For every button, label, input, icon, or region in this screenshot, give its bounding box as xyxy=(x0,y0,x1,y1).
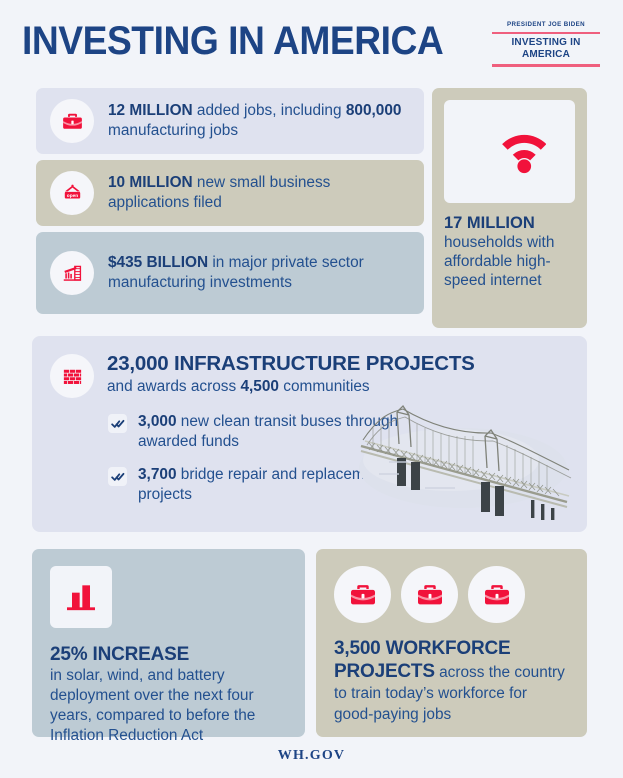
page-title: INVESTING IN AMERICA xyxy=(22,21,443,61)
clean-energy-title: 25% INCREASE xyxy=(50,643,287,666)
bullet-value-transit-buses: 3,000 xyxy=(138,413,177,430)
logo-rule-bottom xyxy=(492,64,600,67)
internet-panel: 17 MILLION households with affordable hi… xyxy=(432,88,587,328)
infra-sub-value: 4,500 xyxy=(240,378,279,395)
bridge-illustration xyxy=(355,400,573,520)
workforce-panel: 3,500 WORKFORCE PROJECTS across the coun… xyxy=(316,549,587,737)
stat-row-investments: $435 BILLION in major private sector man… xyxy=(36,232,424,314)
infra-sub-pre: and awards across xyxy=(107,378,240,395)
clean-energy-body: in solar, wind, and battery deployment o… xyxy=(50,666,287,746)
stat-value-jobs: 12 MILLION xyxy=(108,102,193,119)
double-check-icon xyxy=(108,467,127,486)
briefcase-icon xyxy=(334,566,391,623)
infrastructure-panel: 23,000 INFRASTRUCTURE PROJECTS and award… xyxy=(32,336,587,532)
workforce-text: 3,500 WORKFORCE PROJECTS across the coun… xyxy=(334,637,569,725)
infrastructure-header: 23,000 INFRASTRUCTURE PROJECTS and award… xyxy=(50,352,569,398)
internet-desc: households with affordable high-speed in… xyxy=(444,234,554,289)
stats-column: 12 MILLION added jobs, including 800,000… xyxy=(36,88,424,320)
stat-value-investments: $435 BILLION xyxy=(108,254,208,271)
stat-row-small-business: open 10 MILLION new small business appli… xyxy=(36,160,424,226)
infographic-page: INVESTING IN AMERICA PRESIDENT JOE BIDEN… xyxy=(0,0,623,778)
briefcase-icon-group xyxy=(334,566,569,623)
stat-value-jobs-2: 800,000 xyxy=(346,102,402,119)
investing-in-america-logo: PRESIDENT JOE BIDEN INVESTING IN AMERICA xyxy=(492,20,600,67)
briefcase-icon xyxy=(401,566,458,623)
open-sign-icon: open xyxy=(50,171,94,215)
internet-value: 17 MILLION xyxy=(444,214,535,232)
logo-line-2: AMERICA xyxy=(492,49,600,61)
briefcase-icon xyxy=(50,99,94,143)
bullet-value-bridge-repair: 3,700 xyxy=(138,466,177,483)
stat-desc-jobs-2: manufacturing jobs xyxy=(108,122,238,139)
logo-line-1: INVESTING IN xyxy=(492,37,600,49)
briefcase-icon xyxy=(468,566,525,623)
stat-value-small-business: 10 MILLION xyxy=(108,174,193,191)
clean-energy-panel: 25% INCREASE in solar, wind, and battery… xyxy=(32,549,305,737)
logo-rule-top xyxy=(492,32,600,35)
infrastructure-heading-block: 23,000 INFRASTRUCTURE PROJECTS and award… xyxy=(107,352,475,397)
bar-chart-icon xyxy=(50,566,112,628)
wifi-signal-icon xyxy=(444,100,575,203)
header: INVESTING IN AMERICA PRESIDENT JOE BIDEN… xyxy=(0,0,623,82)
brick-wall-icon xyxy=(50,354,94,398)
infra-sub-post: communities xyxy=(279,378,370,395)
factory-icon xyxy=(50,251,94,295)
stat-text-investments: $435 BILLION in major private sector man… xyxy=(108,253,410,293)
internet-text: 17 MILLION households with affordable hi… xyxy=(444,214,575,290)
footer-wh-gov: WH.GOV xyxy=(0,748,623,764)
infrastructure-subtitle: and awards across 4,500 communities xyxy=(107,377,475,397)
infrastructure-title: 23,000 INFRASTRUCTURE PROJECTS xyxy=(107,352,475,376)
stat-row-jobs: 12 MILLION added jobs, including 800,000… xyxy=(36,88,424,154)
stat-text-jobs: 12 MILLION added jobs, including 800,000… xyxy=(108,101,410,141)
stat-text-small-business: 10 MILLION new small business applicatio… xyxy=(108,173,410,213)
logo-eyebrow: PRESIDENT JOE BIDEN xyxy=(492,20,600,29)
svg-text:open: open xyxy=(66,193,78,198)
stat-desc-jobs-1: added jobs, including xyxy=(193,102,346,119)
double-check-icon xyxy=(108,414,127,433)
